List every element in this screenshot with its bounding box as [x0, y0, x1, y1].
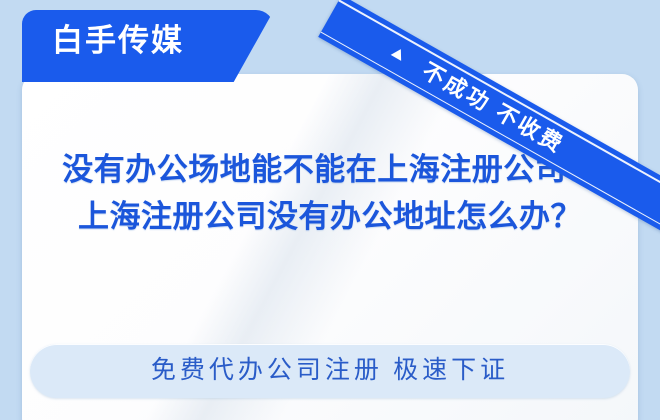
cta-banner-label: 免费代办公司注册 极速下证: [30, 344, 630, 398]
triangle-up-icon: [391, 46, 406, 61]
brand-tab-label: 白手传媒: [52, 19, 184, 63]
cta-banner[interactable]: 免费代办公司注册 极速下证: [30, 344, 630, 398]
page-title: 没有办公场地能不能在上海注册公司？上海注册公司没有办公地址怎么办？: [48, 146, 612, 240]
brand-tab[interactable]: 白手传媒: [22, 10, 274, 82]
promo-poster: 白手传媒 不成功 不收费 没有办公场地能不能在上海注册公司？上海注册公司没有办公…: [0, 0, 660, 420]
